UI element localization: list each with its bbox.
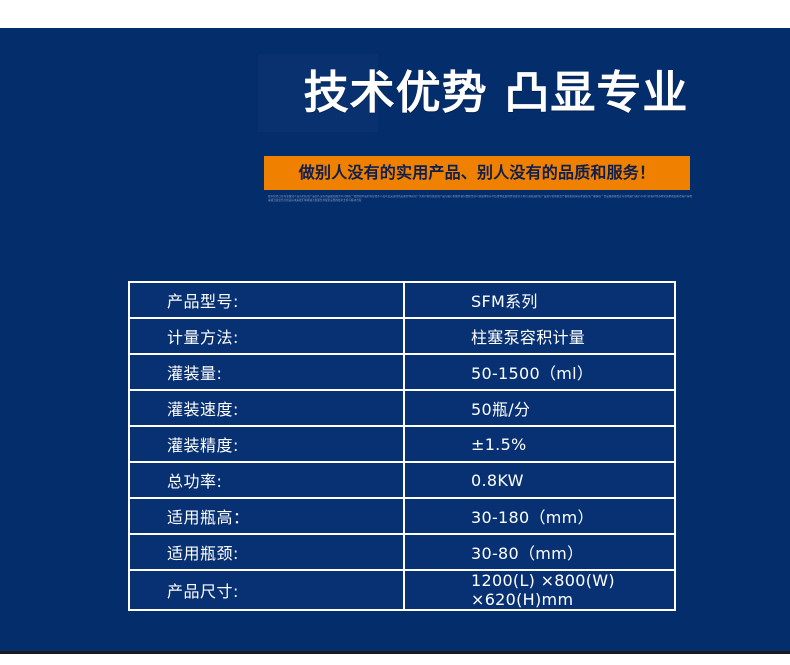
spec-value: 30-80（mm） (404, 534, 675, 570)
table-row: 产品尺寸: 1200(L) ×800(W) ×620(H)mm (129, 570, 675, 610)
table-row: 适用瓶高： 30-180（mm） (129, 498, 675, 534)
spec-value: 0.8KW (404, 462, 675, 498)
product-spec-poster: 技术优势 凸显专业 做别人没有的实用产品、别人没有的品质和服务！ 技术优势凸显专… (0, 0, 790, 665)
spec-value: SFM系列 (404, 282, 675, 318)
spec-label: 产品型号: (129, 282, 404, 318)
poster-background: 技术优势 凸显专业 做别人没有的实用产品、别人没有的品质和服务！ 技术优势凸显专… (0, 28, 790, 651)
spec-label: 灌装精度: (129, 426, 404, 462)
fine-print-paragraph: 技术优势凸显专业做别人没有的实用产品别人没有的品质和服务公司拥有一批经验丰富的专… (268, 195, 692, 203)
tagline-text: 做别人没有的实用产品、别人没有的品质和服务！ (299, 164, 655, 182)
page-title: 技术优势 凸显专业 (300, 64, 692, 122)
spec-value: 50-1500（ml） (404, 354, 675, 390)
table-row: 灌装速度: 50瓶/分 (129, 390, 675, 426)
spec-value: 50瓶/分 (404, 390, 675, 426)
spec-label: 计量方法: (129, 318, 404, 354)
tagline-banner: 做别人没有的实用产品、别人没有的品质和服务！ (264, 156, 690, 190)
table-row: 总功率: 0.8KW (129, 462, 675, 498)
spec-value: ±1.5% (404, 426, 675, 462)
specification-table: 产品型号: SFM系列 计量方法: 柱塞泵容积计量 灌装量: 50-1500（m… (128, 281, 676, 611)
spec-label: 灌装量: (129, 354, 404, 390)
bottom-divider (0, 651, 790, 654)
spec-label: 适用瓶颈: (129, 534, 404, 570)
spec-label: 适用瓶高： (129, 498, 404, 534)
spec-label: 产品尺寸: (129, 570, 404, 610)
table-row: 计量方法: 柱塞泵容积计量 (129, 318, 675, 354)
table-row: 灌装量: 50-1500（ml） (129, 354, 675, 390)
table-row: 适用瓶颈: 30-80（mm） (129, 534, 675, 570)
spec-value: 1200(L) ×800(W) ×620(H)mm (404, 570, 675, 610)
table-row: 灌装精度: ±1.5% (129, 426, 675, 462)
table-row: 产品型号: SFM系列 (129, 282, 675, 318)
spec-label: 灌装速度: (129, 390, 404, 426)
spec-value: 30-180（mm） (404, 498, 675, 534)
spec-label: 总功率: (129, 462, 404, 498)
spec-value: 柱塞泵容积计量 (404, 318, 675, 354)
